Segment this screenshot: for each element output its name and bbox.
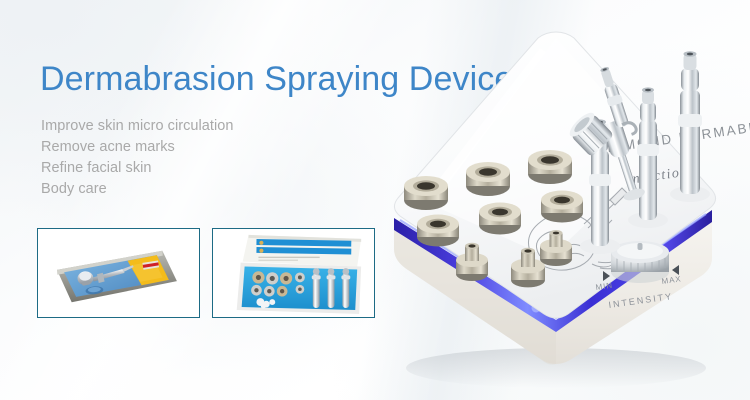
feature-item: Remove acne marks <box>41 137 233 158</box>
product-banner: Dermabrasion Spraying Device Improve ski… <box>0 0 750 400</box>
dermabrasion-machine: DIAMOND DERMABRASION injection <box>360 8 750 400</box>
airbrush-kit-image <box>38 229 199 318</box>
thumbnail-airbrush-kit[interactable] <box>37 228 200 318</box>
product-device-image: DIAMOND DERMABRASION injection <box>360 8 750 400</box>
feature-item: Improve skin micro circulation <box>41 116 233 137</box>
feature-item: Body care <box>41 179 233 200</box>
feature-list: Improve skin micro circulation Remove ac… <box>41 116 233 200</box>
diamond-tip-kit-image <box>213 229 374 318</box>
thumbnail-diamond-tip-kit[interactable] <box>212 228 375 318</box>
feature-item: Refine facial skin <box>41 158 233 179</box>
